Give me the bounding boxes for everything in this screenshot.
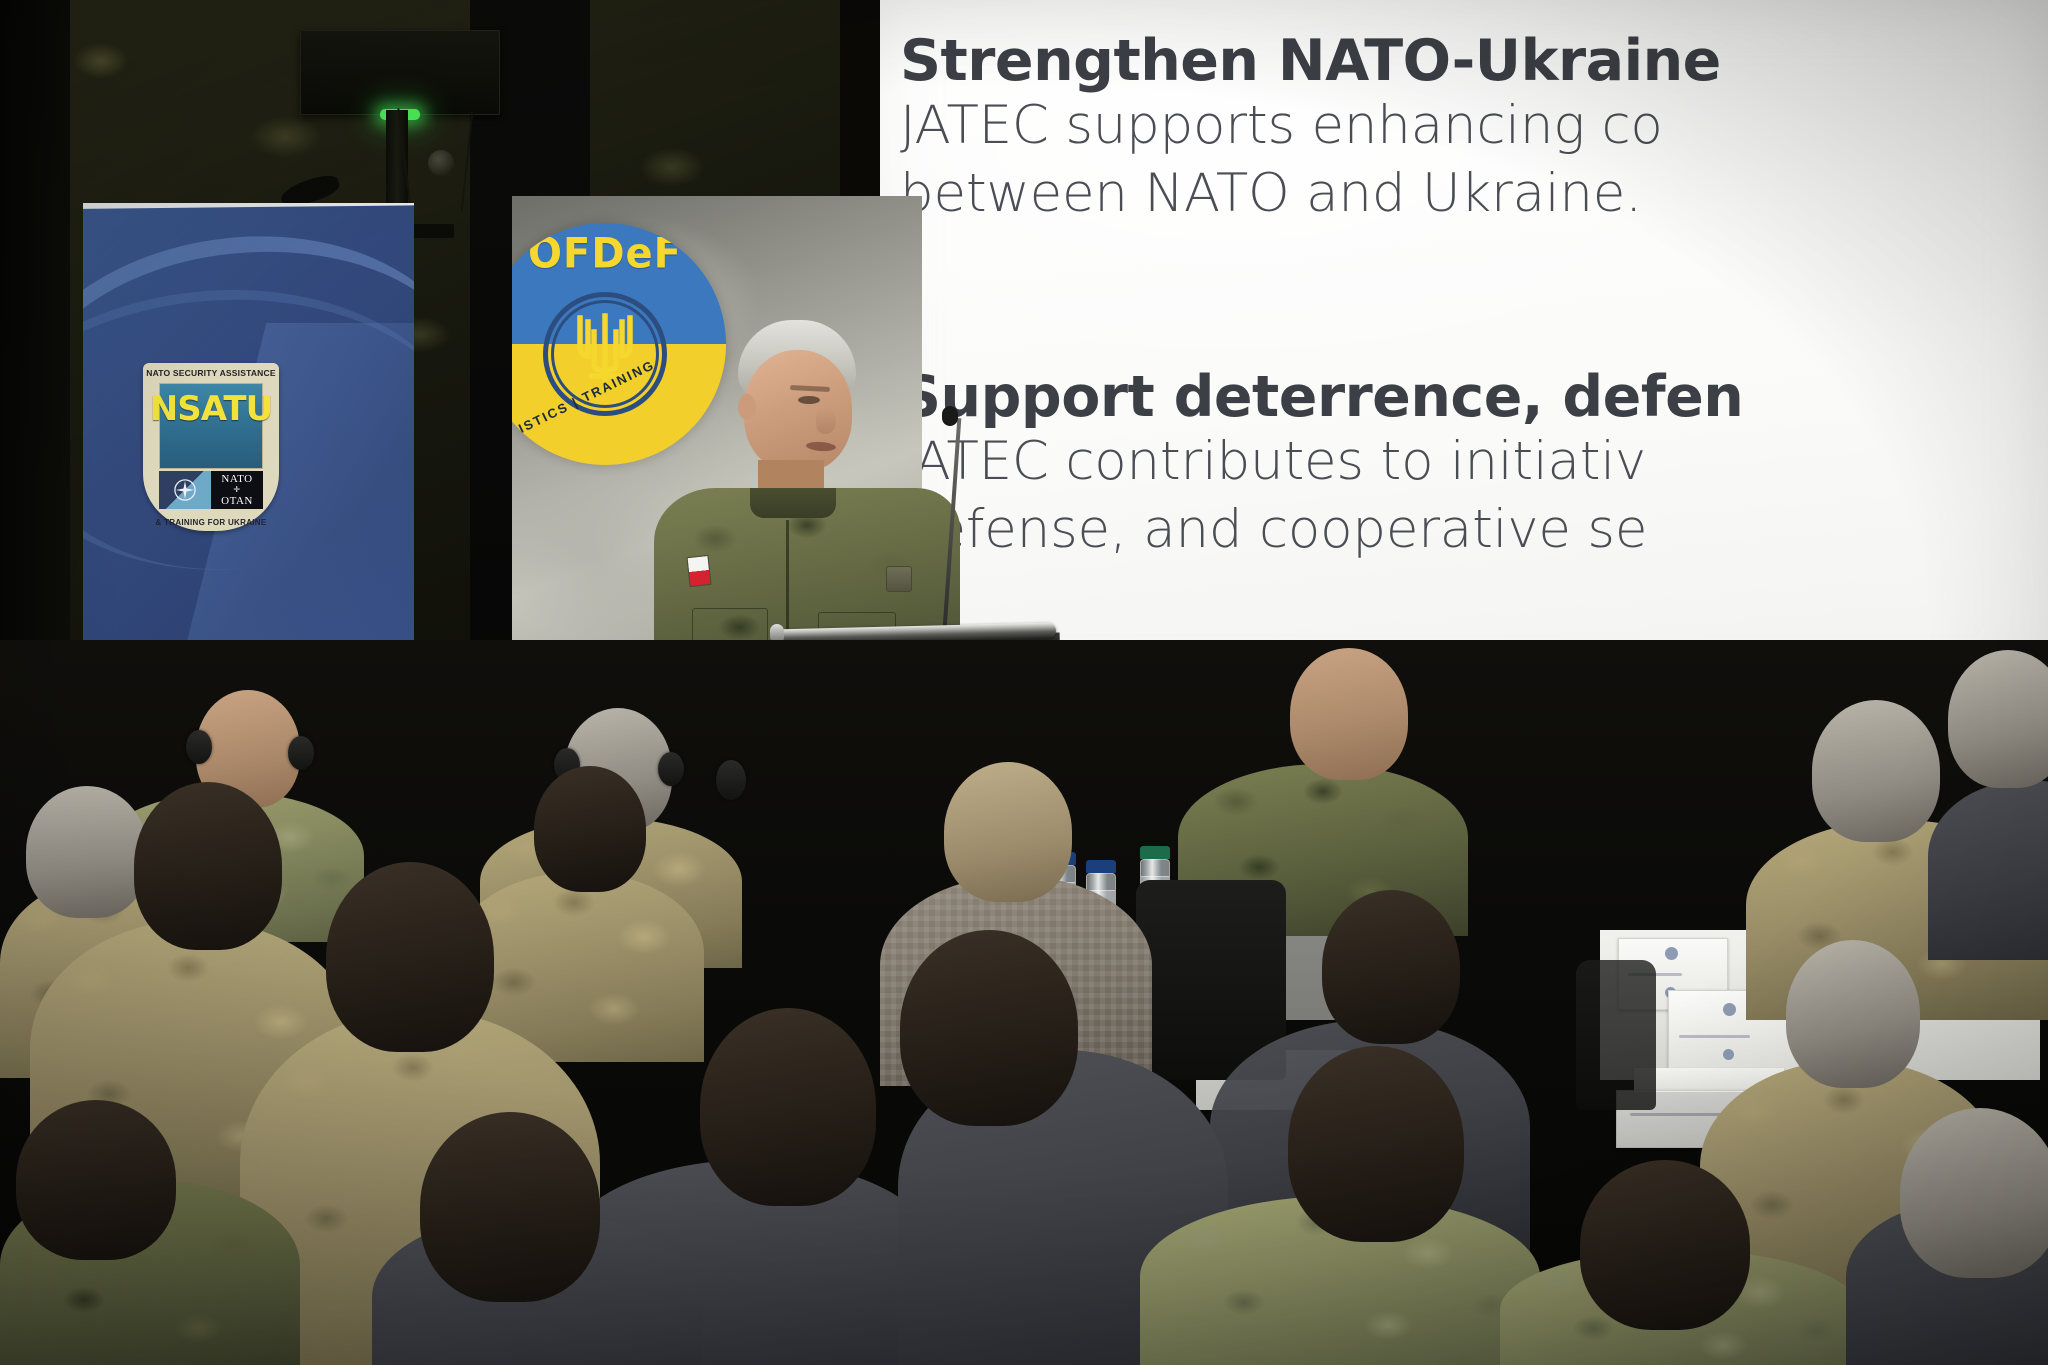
nsatu-bottom-arc-text: & TRAINING FOR UKRAINE — [143, 518, 279, 527]
nsatu-otan-label: OTAN — [221, 495, 253, 507]
headset-icon — [658, 752, 684, 786]
attendee-head — [1322, 890, 1460, 1044]
conference-photo-scene: Strengthen NATO-Ukraine JATEC supports e… — [0, 0, 2048, 1365]
confidence-monitor — [300, 30, 500, 115]
slide-heading-1: Strengthen NATO-Ukraine — [900, 32, 1721, 92]
polish-flag-patch-icon — [686, 555, 711, 587]
speaker-nose — [816, 408, 836, 434]
shoulder-patch-icon — [886, 566, 912, 592]
attendee-head — [1812, 700, 1940, 842]
attendee-head — [1580, 1160, 1750, 1330]
slide-body-line-2b: defense, and cooperative se — [900, 496, 1743, 564]
speaker-uniform-collar — [750, 488, 836, 518]
attendee-head — [1900, 1108, 2048, 1278]
headset-icon — [186, 730, 212, 764]
bottle-cap — [1140, 846, 1170, 859]
ofdef-wordmark: OFDeF — [512, 230, 726, 278]
bottle-cap — [1086, 860, 1116, 873]
name-card-seal-icon — [1723, 1003, 1736, 1016]
nsatu-lower-quadrants: NATO ✛ OTAN — [159, 471, 263, 509]
name-card-seal-icon — [1723, 1049, 1734, 1060]
camera-lens-icon — [428, 150, 454, 176]
attendee-head — [420, 1112, 600, 1302]
banner-top-rail — [83, 203, 414, 209]
name-card-seal-icon — [1665, 947, 1678, 960]
nsatu-top-text: NATO SECURITY ASSISTANCE — [143, 368, 279, 378]
name-card-text-line — [1630, 1113, 1728, 1116]
attendee-head — [900, 930, 1078, 1126]
podium-microphone-icon — [942, 406, 958, 426]
attendee-head — [1786, 940, 1920, 1088]
attendee-head — [1290, 648, 1408, 780]
attendee-head — [26, 786, 148, 918]
nsatu-cross-icon: ✛ — [233, 486, 240, 495]
nsatu-nato-otan-quadrant: NATO ✛ OTAN — [211, 471, 263, 509]
nsatu-badge: NATO SECURITY ASSISTANCE NSATU NATO ✛ OT… — [143, 363, 279, 531]
attendee-head — [134, 782, 282, 950]
nsatu-rollup-banner: NATO SECURITY ASSISTANCE NSATU NATO ✛ OT… — [83, 203, 414, 700]
projection-screen: Strengthen NATO-Ukraine JATEC supports e… — [880, 0, 2048, 700]
slide-heading-2: Support deterrence, defen — [900, 368, 1743, 428]
attendee-head — [326, 862, 494, 1052]
headset-icon — [288, 736, 314, 770]
nsatu-compass-quadrant — [159, 471, 211, 509]
speaker-head — [744, 350, 852, 472]
chair-back — [1576, 960, 1656, 1110]
slide-body-line-1a: JATEC supports enhancing co — [900, 92, 1721, 160]
speaker-eye — [798, 396, 820, 404]
nsatu-nato-label: NATO — [221, 473, 252, 485]
attendee-head — [1288, 1046, 1464, 1242]
attendee-head — [944, 762, 1072, 902]
slide-block-2: Support deterrence, defen JATEC contribu… — [900, 368, 1743, 564]
slide-body-line-1b: between NATO and Ukraine. — [900, 160, 1721, 228]
slide-body-line-2a: JATEC contributes to initiativ — [900, 428, 1743, 496]
nato-compass-star-icon — [174, 479, 196, 501]
name-card-text-line — [1679, 1035, 1749, 1038]
attendee-head — [16, 1100, 176, 1260]
speaker-ear — [738, 394, 756, 420]
attendee-head — [700, 1008, 876, 1206]
attendee-head — [534, 766, 646, 892]
slide-block-1: Strengthen NATO-Ukraine JATEC supports e… — [900, 32, 1721, 228]
headset-icon — [716, 760, 746, 800]
nsatu-acronym: NSATU — [143, 389, 279, 429]
